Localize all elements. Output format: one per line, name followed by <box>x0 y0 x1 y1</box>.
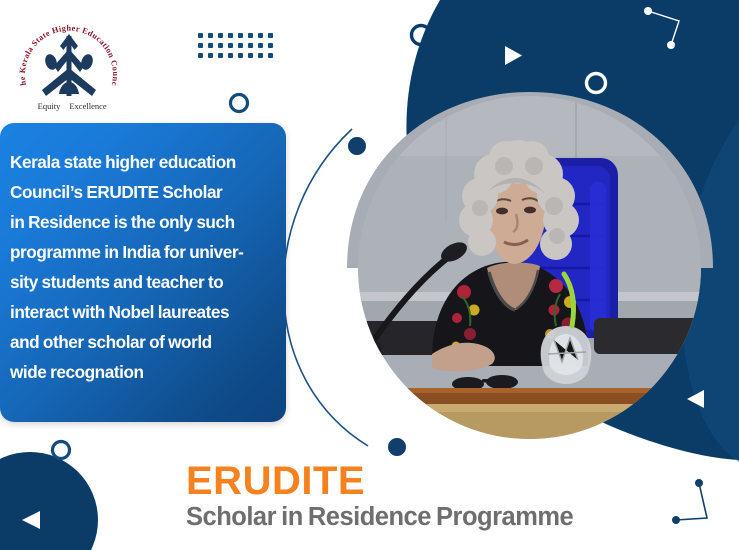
poster-root: The Kerala State Higher Education Counci… <box>0 0 739 550</box>
navy-blob-bottom-left <box>0 452 98 550</box>
description-line-0: Kerala state higher education <box>10 147 274 177</box>
description-line-3: programme in India for univer- <box>10 237 274 267</box>
navy-arc-dot-bottom <box>388 438 406 456</box>
navy-circle-outline-top-left <box>231 95 248 112</box>
description-card: Kerala state higher education Council’s … <box>0 123 286 422</box>
page-title: ERUDITE <box>186 461 365 501</box>
logo-emblem-icon <box>42 34 96 96</box>
logo-tagline-excellence: Excellence <box>69 101 107 111</box>
navy-arc-with-dots <box>284 129 368 446</box>
description-line-6: and other scholar of world <box>10 327 274 357</box>
description-line-4: sity students and teacher to <box>10 267 274 297</box>
dot-grid <box>198 33 273 58</box>
description-line-7: wide recognation <box>10 357 274 387</box>
navy-circle-outline-bottom-left <box>53 442 70 459</box>
description-line-2: in Residence is the only such <box>10 207 274 237</box>
description-line-5: interact with Nobel laureates <box>10 297 274 327</box>
nobel-laureate-speaker-photo <box>358 96 701 439</box>
photo-illustration <box>358 96 701 439</box>
description-line-1: Council’s ERUDITE Scholar <box>10 177 274 207</box>
council-logo: The Kerala State Higher Education Counci… <box>18 10 120 115</box>
logo-tagline-equity: Equity <box>38 101 61 111</box>
page-subtitle: Scholar in Residence Programme <box>186 505 573 531</box>
navy-connector-line <box>672 479 707 524</box>
